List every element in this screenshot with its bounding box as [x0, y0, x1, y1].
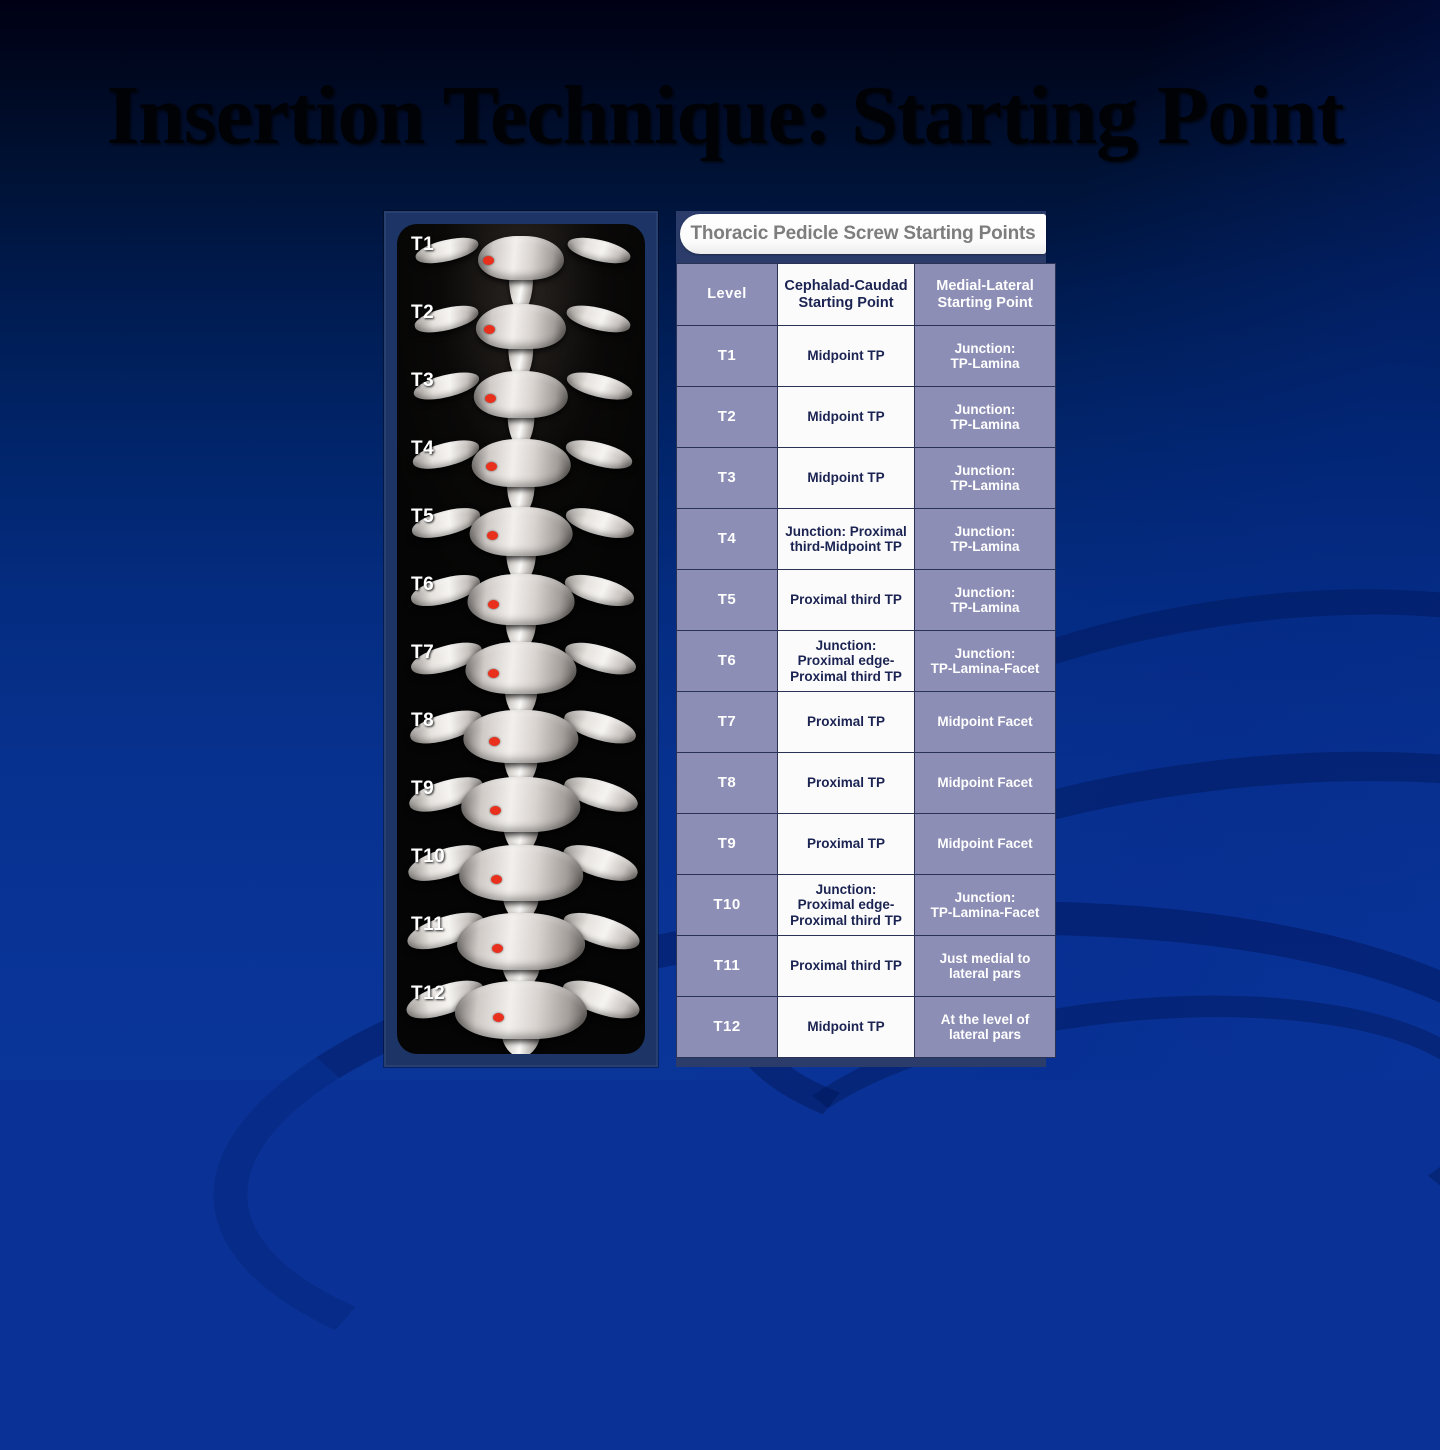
- spine-label-t10: T10: [411, 846, 445, 868]
- transverse-process-right-t3: [564, 368, 634, 406]
- thoracic-spine-specimen-photo: T1T2T3T4T5T6T7T8T9T10T11T12: [397, 224, 645, 1054]
- spine-label-t6: T6: [411, 574, 434, 596]
- cell-medial-lateral-t12: At the level oflateral pars: [915, 997, 1056, 1058]
- cell-medial-lateral-t9: Midpoint Facet: [915, 814, 1056, 875]
- screw-start-marker-t2: [484, 325, 495, 334]
- table-title-text: Thoracic Pedicle Screw Starting Points: [690, 223, 1035, 245]
- column-header-medial-lateral-line2: Starting Point: [937, 295, 1032, 311]
- table-row: T1Midpoint TPJunction:TP-Lamina: [677, 326, 1056, 387]
- spine-label-t12: T12: [411, 983, 445, 1005]
- cell-level-t3: T3: [677, 448, 778, 509]
- cell-medial-lateral-t4: Junction:TP-Lamina: [915, 509, 1056, 570]
- cell-level-t10: T10: [677, 875, 778, 936]
- cell-cephalad-caudad-t4: Junction: Proximalthird-Midpoint TP: [778, 509, 915, 570]
- screw-start-marker-t6: [488, 600, 499, 609]
- lamina-t5: [470, 507, 573, 556]
- cell-level-t12: T12: [677, 997, 778, 1058]
- cell-medial-lateral-t2: Junction:TP-Lamina: [915, 387, 1056, 448]
- spine-label-t2: T2: [411, 302, 434, 324]
- cell-level-t4: T4: [677, 509, 778, 570]
- cell-medial-lateral-t8: Midpoint Facet: [915, 753, 1056, 814]
- column-header-cephalad-caudad-line2: Starting Point: [798, 295, 893, 311]
- cell-level-t7: T7: [677, 692, 778, 753]
- table-row: T5Proximal third TPJunction:TP-Lamina: [677, 570, 1056, 631]
- cell-level-t9: T9: [677, 814, 778, 875]
- cell-level-t11: T11: [677, 936, 778, 997]
- table-row: T10Junction:Proximal edge-Proximal third…: [677, 875, 1056, 936]
- spine-label-t4: T4: [411, 438, 434, 460]
- transverse-process-right-t5: [563, 502, 637, 543]
- cell-cephalad-caudad-t9: Proximal TP: [778, 814, 915, 875]
- cell-medial-lateral-t11: Just medial tolateral pars: [915, 936, 1056, 997]
- lamina-t6: [468, 574, 575, 624]
- transverse-process-right-t1: [565, 233, 632, 268]
- lamina-t8: [463, 710, 578, 763]
- spine-label-t9: T9: [411, 778, 434, 800]
- column-header-level: Level: [677, 264, 778, 326]
- cell-level-t8: T8: [677, 753, 778, 814]
- transverse-process-right-t4: [564, 435, 636, 474]
- column-header-medial-lateral: Medial-Lateral Starting Point: [915, 264, 1056, 326]
- cell-cephalad-caudad-t8: Proximal TP: [778, 753, 915, 814]
- screw-start-marker-t5: [487, 531, 498, 540]
- starting-points-table-panel: Thoracic Pedicle Screw Starting Points L…: [676, 211, 1046, 1067]
- table-row: T6Junction:Proximal edge-Proximal third …: [677, 631, 1056, 692]
- table-title-banner: Thoracic Pedicle Screw Starting Points: [680, 214, 1046, 254]
- table-head: Level Cephalad-Caudad Starting Point Med…: [677, 264, 1056, 326]
- cell-cephalad-caudad-t10: Junction:Proximal edge-Proximal third TP: [778, 875, 915, 936]
- cell-level-t5: T5: [677, 570, 778, 631]
- table-row: T9Proximal TPMidpoint Facet: [677, 814, 1056, 875]
- cell-medial-lateral-t3: Junction:TP-Lamina: [915, 448, 1056, 509]
- table-row: T3Midpoint TPJunction:TP-Lamina: [677, 448, 1056, 509]
- table-body: T1Midpoint TPJunction:TP-LaminaT2Midpoin…: [677, 326, 1056, 1058]
- screw-start-marker-t1: [483, 256, 494, 265]
- cell-level-t6: T6: [677, 631, 778, 692]
- cell-cephalad-caudad-t6: Junction:Proximal edge-Proximal third TP: [778, 631, 915, 692]
- cell-cephalad-caudad-t12: Midpoint TP: [778, 997, 915, 1058]
- spine-label-t11: T11: [411, 914, 444, 936]
- lamina-t9: [461, 777, 580, 831]
- cell-medial-lateral-t7: Midpoint Facet: [915, 692, 1056, 753]
- cell-medial-lateral-t6: Junction:TP-Lamina-Facet: [915, 631, 1056, 692]
- table-row: T11Proximal third TPJust medial tolatera…: [677, 936, 1056, 997]
- screw-start-marker-t7: [488, 669, 499, 678]
- cell-cephalad-caudad-t11: Proximal third TP: [778, 936, 915, 997]
- spine-photo-panel: T1T2T3T4T5T6T7T8T9T10T11T12: [384, 211, 658, 1067]
- cell-cephalad-caudad-t2: Midpoint TP: [778, 387, 915, 448]
- cell-level-t2: T2: [677, 387, 778, 448]
- lamina-t11: [457, 913, 585, 970]
- table-row: T2Midpoint TPJunction:TP-Lamina: [677, 387, 1056, 448]
- column-header-cephalad-caudad-line1: Cephalad-Caudad: [784, 278, 907, 294]
- spine-label-t3: T3: [411, 370, 434, 392]
- cell-cephalad-caudad-t5: Proximal third TP: [778, 570, 915, 631]
- table-row: T4Junction: Proximalthird-Midpoint TPJun…: [677, 509, 1056, 570]
- cell-cephalad-caudad-t3: Midpoint TP: [778, 448, 915, 509]
- screw-start-marker-t12: [493, 1013, 504, 1022]
- spine-label-t7: T7: [411, 642, 434, 664]
- screw-start-marker-t11: [492, 944, 503, 953]
- cell-cephalad-caudad-t1: Midpoint TP: [778, 326, 915, 387]
- thoracic-pedicle-screw-starting-points-table: Level Cephalad-Caudad Starting Point Med…: [676, 263, 1056, 1058]
- slide-title: Insertion Technique: Starting Point: [50, 72, 1400, 160]
- cell-medial-lateral-t10: Junction:TP-Lamina-Facet: [915, 875, 1056, 936]
- screw-start-marker-t3: [485, 394, 496, 403]
- spine-label-t1: T1: [411, 234, 434, 256]
- spine-label-t8: T8: [411, 710, 434, 732]
- spine-label-t5: T5: [411, 506, 434, 528]
- figure-container: T1T2T3T4T5T6T7T8T9T10T11T12 Thoracic Ped…: [384, 211, 1046, 1067]
- lamina-t7: [465, 642, 576, 694]
- cell-level-t1: T1: [677, 326, 778, 387]
- table-row: T8Proximal TPMidpoint Facet: [677, 753, 1056, 814]
- column-header-cephalad-caudad: Cephalad-Caudad Starting Point: [778, 264, 915, 326]
- lamina-t10: [459, 845, 583, 900]
- table-row: T7Proximal TPMidpoint Facet: [677, 692, 1056, 753]
- cell-medial-lateral-t1: Junction:TP-Lamina: [915, 326, 1056, 387]
- cell-cephalad-caudad-t7: Proximal TP: [778, 692, 915, 753]
- cell-medial-lateral-t5: Junction:TP-Lamina: [915, 570, 1056, 631]
- transverse-process-right-t2: [565, 300, 634, 336]
- table-row: T12Midpoint TPAt the level oflateral par…: [677, 997, 1056, 1058]
- column-header-medial-lateral-line1: Medial-Lateral: [936, 278, 1034, 294]
- table-header-row: Level Cephalad-Caudad Starting Point Med…: [677, 264, 1056, 326]
- lamina-t12: [455, 981, 587, 1039]
